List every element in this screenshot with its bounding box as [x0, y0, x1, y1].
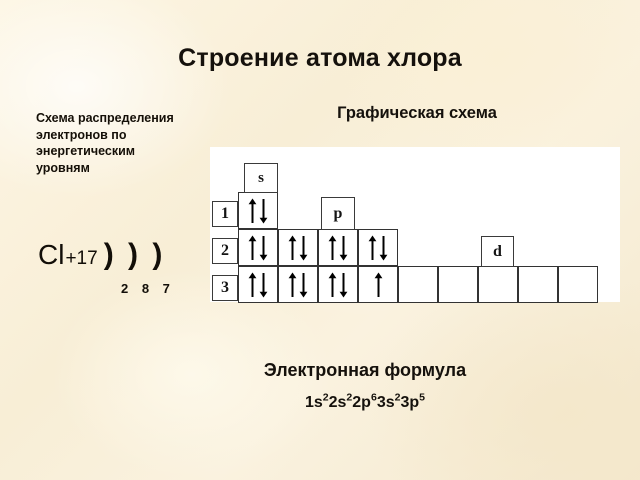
orbital-cell-arrows	[239, 230, 277, 265]
formula-superscript: 2	[346, 392, 352, 404]
electron-formula-heading: Электронная формула	[200, 360, 530, 381]
orbital-diagram-panel: 123spd	[210, 147, 620, 302]
spin-down-arrow-icon	[299, 272, 308, 298]
spin-up-arrow-icon	[368, 235, 377, 261]
shell-schema-formula: Cl +17 ) ) )	[38, 240, 165, 270]
orbital-type-label-p: p	[321, 197, 355, 230]
spin-up-arrow-icon	[288, 235, 297, 261]
spin-down-arrow-icon	[259, 198, 268, 224]
orbital-cell-3d	[558, 266, 598, 303]
spin-up-arrow-icon	[248, 235, 257, 261]
energy-level-label-2: 2	[212, 238, 238, 264]
spin-up-arrow-icon	[374, 272, 383, 298]
orbital-cell-2p	[318, 229, 358, 266]
shell-arcs: ) ) )	[104, 240, 166, 270]
orbital-cell-2s	[238, 229, 278, 266]
orbital-cell-2p	[278, 229, 318, 266]
formula-superscript: 2	[395, 392, 401, 404]
orbital-cell-3p	[278, 266, 318, 303]
orbital-cell-arrows	[319, 267, 357, 302]
orbital-cell-arrows	[279, 267, 317, 302]
energy-level-label-3: 3	[212, 275, 238, 301]
energy-level-label-1: 1	[212, 201, 238, 227]
orbital-cell-arrows	[359, 267, 397, 302]
spin-up-arrow-icon	[248, 272, 257, 298]
spin-down-arrow-icon	[299, 235, 308, 261]
orbital-cell-3d	[438, 266, 478, 303]
orbital-cell-2p	[358, 229, 398, 266]
spin-down-arrow-icon	[339, 272, 348, 298]
scheme-heading: Графическая схема	[212, 104, 622, 123]
orbital-cell-3p	[358, 266, 398, 303]
orbital-cell-arrows	[239, 193, 277, 228]
element-symbol: Cl	[38, 241, 64, 269]
orbital-cell-arrows	[319, 230, 357, 265]
spin-down-arrow-icon	[339, 235, 348, 261]
orbital-grid: 123spd	[210, 147, 620, 302]
orbital-cell-arrows	[239, 267, 277, 302]
spin-up-arrow-icon	[328, 235, 337, 261]
orbital-type-label-d: d	[481, 236, 514, 267]
orbital-cell-3s	[238, 266, 278, 303]
formula-superscript: 6	[371, 392, 377, 404]
spin-down-arrow-icon	[379, 235, 388, 261]
orbital-cell-arrows	[359, 230, 397, 265]
orbital-type-label-s: s	[244, 163, 278, 193]
nuclear-charge: +17	[65, 249, 97, 268]
orbital-cell-3d	[518, 266, 558, 303]
page-title: Строение атома хлора	[0, 44, 640, 73]
left-caption-text: Схема распределения электронов по энерге…	[36, 110, 186, 177]
orbital-cell-arrows	[279, 230, 317, 265]
orbital-cell-3d	[398, 266, 438, 303]
orbital-cell-1s	[238, 192, 278, 229]
electron-formula-value: 1s22s22p63s23p5	[200, 394, 530, 412]
spin-down-arrow-icon	[259, 272, 268, 298]
spin-up-arrow-icon	[328, 272, 337, 298]
slide-root: Строение атома хлора Схема распределения…	[0, 0, 640, 480]
formula-superscript: 5	[419, 392, 425, 404]
formula-superscript: 2	[323, 392, 329, 404]
spin-down-arrow-icon	[259, 235, 268, 261]
spin-up-arrow-icon	[248, 198, 257, 224]
orbital-cell-3p	[318, 266, 358, 303]
orbital-cell-3d	[478, 266, 518, 303]
shell-electron-counts: 2 8 7	[121, 281, 175, 296]
spin-up-arrow-icon	[288, 272, 297, 298]
